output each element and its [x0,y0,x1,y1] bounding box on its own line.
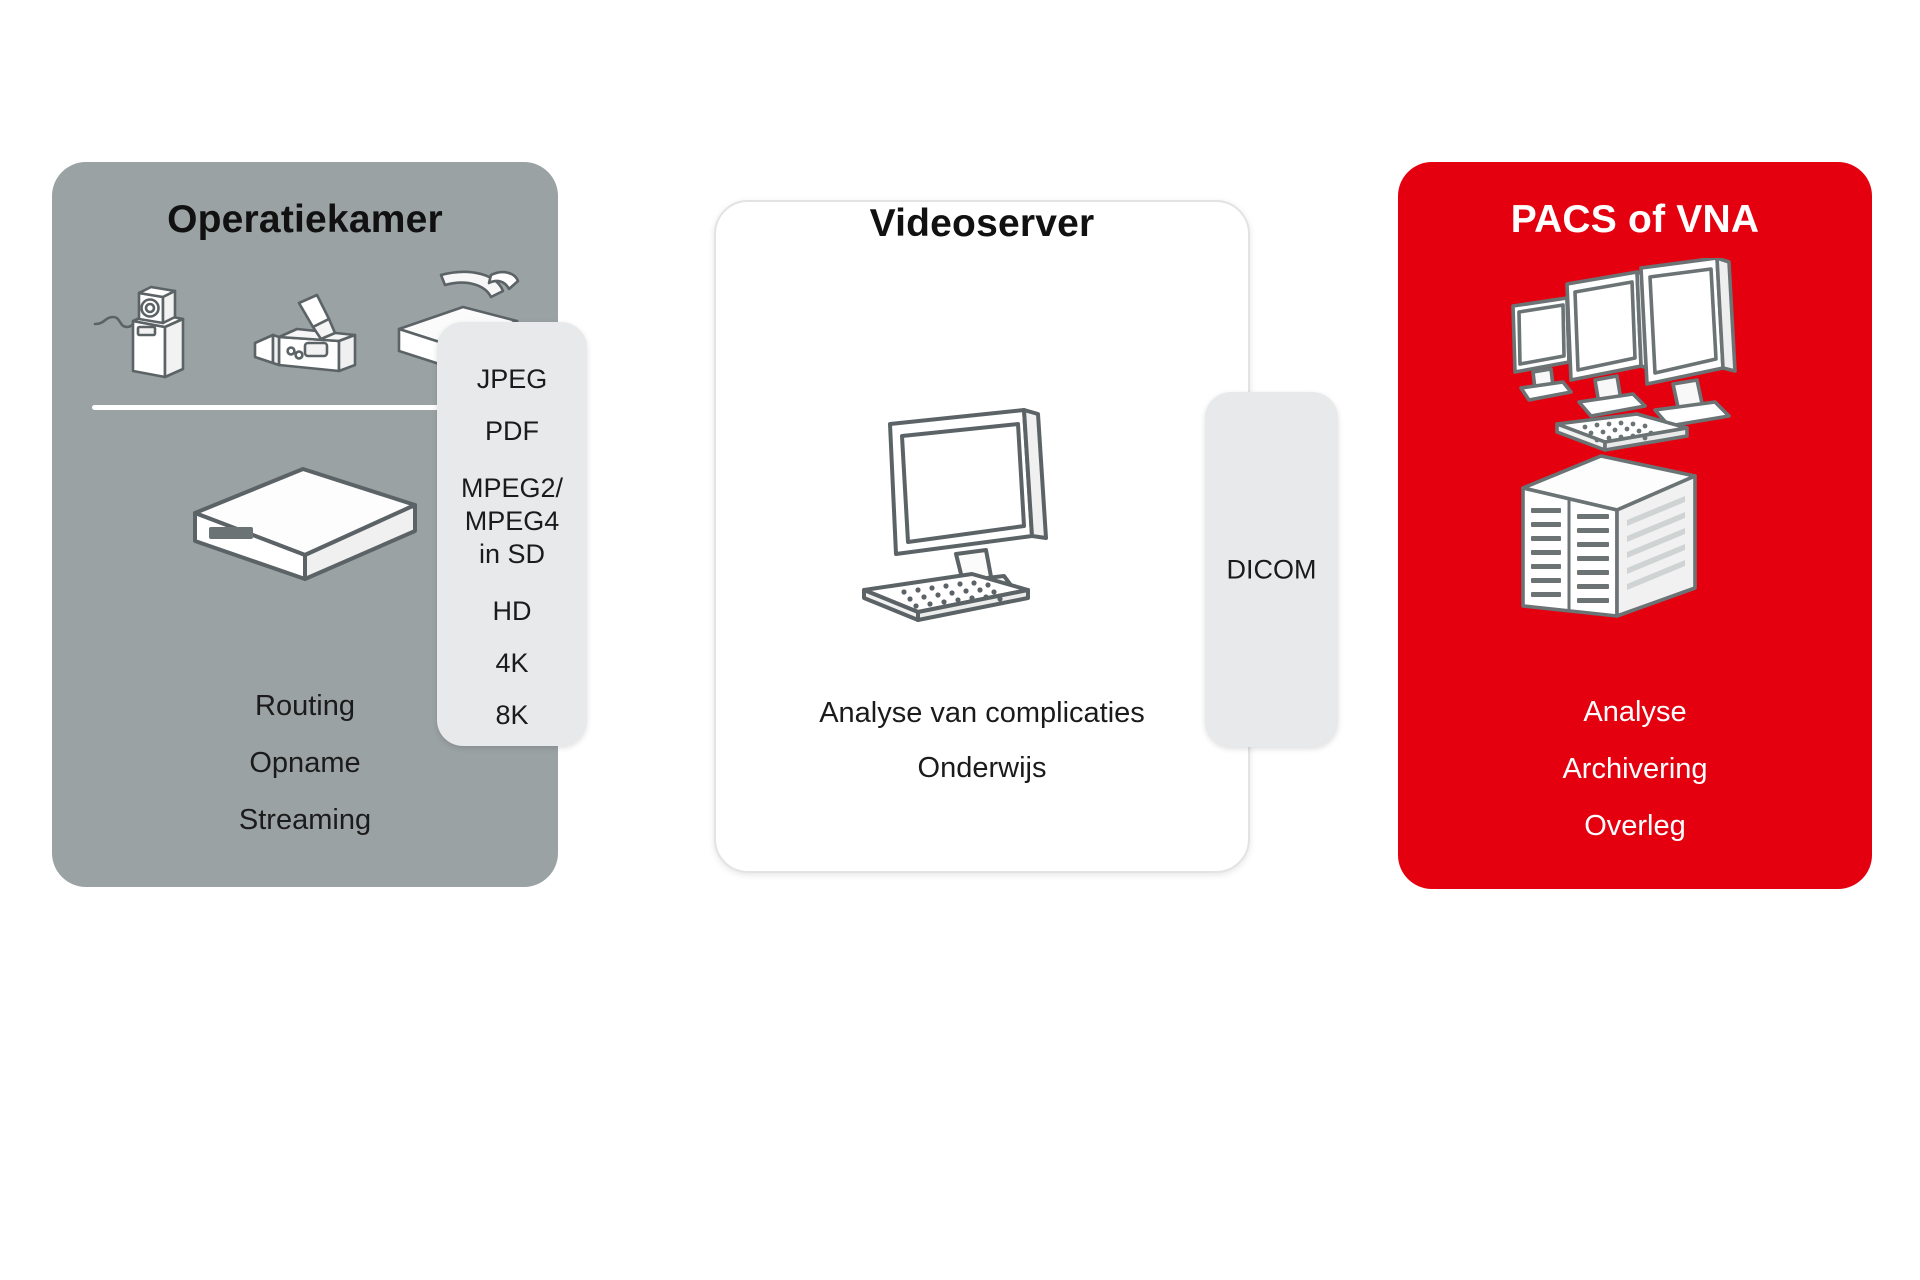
surgical-camera-icon [89,267,217,384]
caption-analyse: Analyse [1398,698,1872,727]
format-hd: HD [437,598,587,625]
caption-streaming: Streaming [52,806,558,835]
caption-archivering: Archivering [1398,755,1872,784]
panel-title-pacs: PACS of VNA [1398,198,1872,242]
connector-formats: JPEG PDF MPEG2/ MPEG4 in SD HD 4K 8K [437,322,587,746]
format-4k: 4K [437,650,587,677]
format-mpeg2: MPEG2/ [437,475,587,502]
panel-title-videoserver: Videoserver [716,202,1248,246]
server-rack-icon [1523,456,1695,616]
format-in-sd: in SD [437,541,587,568]
pacs-equipment-icon-group [1505,258,1765,623]
caption-analyse-complicaties: Analyse van complicaties [716,699,1248,728]
panel-title-operating-room: Operatiekamer [52,198,558,242]
format-8k: 8K [437,702,587,729]
panel-videoserver: Videoserver [714,200,1250,873]
monitor-large-icon [1641,258,1735,426]
panel-pacs: PACS of VNA [1398,162,1872,889]
connector-dicom: DICOM [1205,392,1338,747]
dicom-label: DICOM [1205,554,1338,585]
pacs-captions: Analyse Archivering Overleg [1398,698,1872,841]
diagram-canvas: Operatiekamer [0,0,1920,1280]
format-list: JPEG PDF MPEG2/ MPEG4 in SD HD 4K 8K [437,366,587,754]
caption-overleg: Overleg [1398,812,1872,841]
format-jpeg: JPEG [437,366,587,393]
format-mpeg4: MPEG4 [437,508,587,535]
format-pdf: PDF [437,418,587,445]
video-router-icon [185,457,425,592]
monitor-medium-icon [1567,272,1651,416]
workstation-monitor-icon [852,402,1112,637]
videoserver-captions: Analyse van complicaties Onderwijs [716,699,1248,809]
video-camera-icon [243,289,359,384]
caption-onderwijs: Onderwijs [716,754,1248,783]
